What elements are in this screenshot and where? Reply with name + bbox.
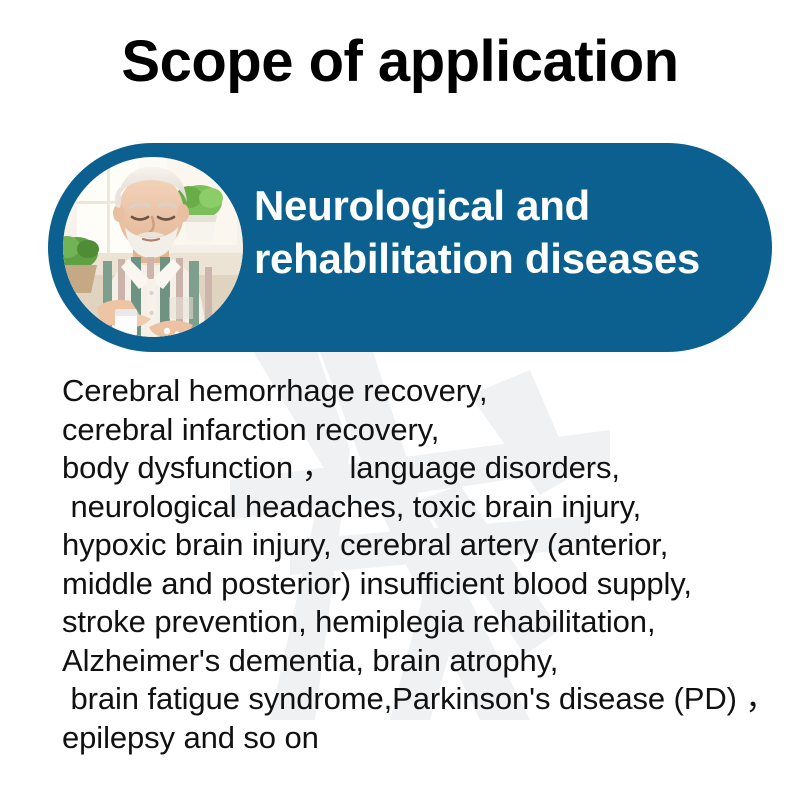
- indication-line: brain fatigue syndrome,Parkinson's disea…: [62, 680, 792, 719]
- banner-title-line-1: Neurological and: [254, 179, 759, 232]
- indication-line: body dysfunction ， language disorders,: [62, 449, 792, 488]
- elderly-man-photo: [63, 157, 243, 337]
- category-banner: Neurological and rehabilitation diseases: [48, 143, 772, 352]
- indication-line: epilepsy and so on: [62, 719, 792, 758]
- indication-line: cerebral infarction recovery,: [62, 411, 792, 450]
- indication-line: hypoxic brain injury, cerebral artery (a…: [62, 526, 792, 565]
- indication-line: Alzheimer's dementia, brain atrophy,: [62, 642, 792, 681]
- banner-title: Neurological and rehabilitation diseases: [254, 179, 759, 285]
- indication-line: stroke prevention, hemiplegia rehabilita…: [62, 603, 792, 642]
- page-title: Scope of application: [0, 28, 800, 96]
- indications-list: Cerebral hemorrhage recovery, cerebral i…: [62, 372, 792, 757]
- scope-of-application-page: Scope of application: [0, 0, 800, 800]
- banner-title-line-2: rehabilitation diseases: [254, 232, 759, 285]
- indication-line: Cerebral hemorrhage recovery,: [62, 372, 792, 411]
- banner-photo-avatar: [63, 157, 243, 337]
- indication-line: neurological headaches, toxic brain inju…: [62, 488, 792, 527]
- indication-line: middle and posterior) insufficient blood…: [62, 565, 792, 604]
